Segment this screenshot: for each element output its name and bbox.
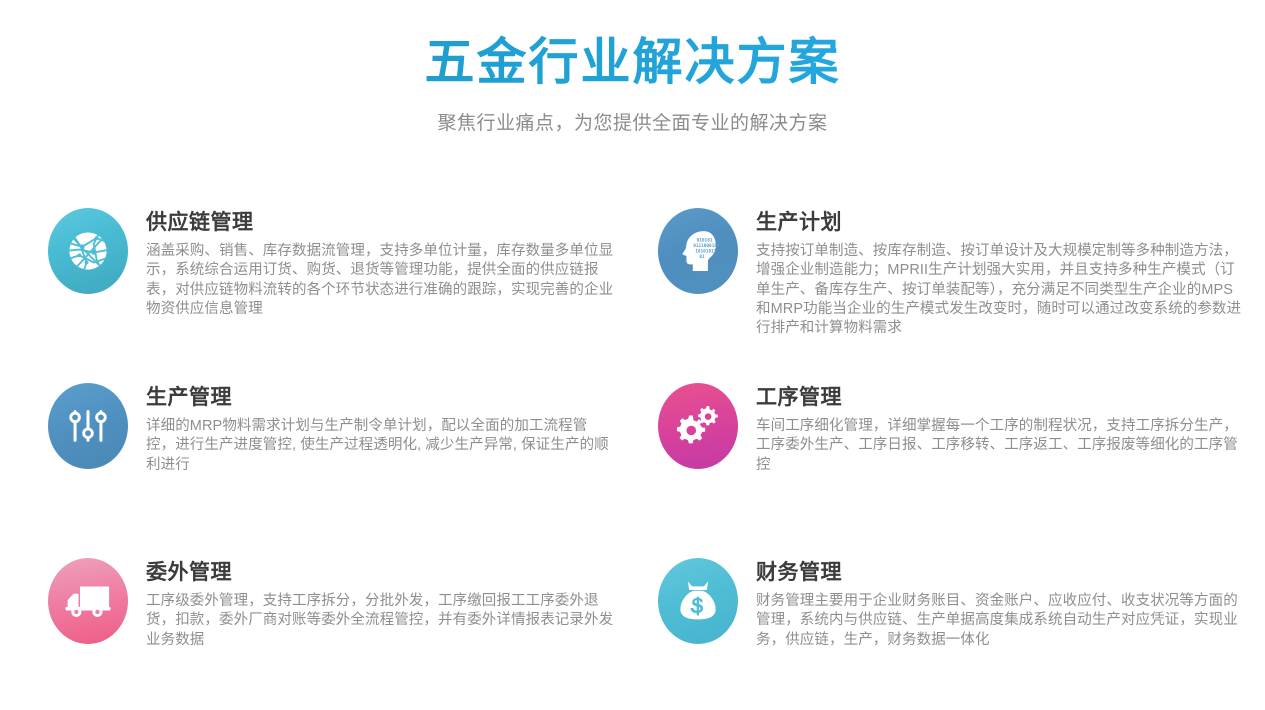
card-description: 涵盖采购、销售、库存数据流管理，支持多单位计量，库存数量多单位显示，系统综合运用… xyxy=(146,242,616,319)
brain-head-binary-icon: 010101 01110001001 10101011 01 xyxy=(658,208,738,294)
feature-card-production-plan[interactable]: 010101 01110001001 10101011 01 生产计划 支持按订… xyxy=(658,200,1258,375)
svg-text:010101: 010101 xyxy=(697,237,713,243)
network-globe-icon xyxy=(48,208,128,294)
delivery-truck-icon xyxy=(48,558,128,644)
feature-card-supply-chain[interactable]: 供应链管理 涵盖采购、销售、库存数据流管理，支持多单位计量，库存数量多单位显示，… xyxy=(48,200,638,375)
money-bag-icon xyxy=(658,558,738,644)
card-title: 生产计划 xyxy=(756,206,1258,236)
card-description: 财务管理主要用于企业财务账目、资金账户、应收应付、收支状况等方面的管理，系统内与… xyxy=(756,592,1246,650)
sliders-icon xyxy=(48,383,128,469)
feature-card-process-mgmt[interactable]: 工序管理 车间工序细化管理，详细掌握每一个工序的制程状况，支持工序拆分生产，工序… xyxy=(658,375,1258,550)
card-description: 工序级委外管理，支持工序拆分，分批外发，工序缴回报工工序委外退货，扣款，委外厂商… xyxy=(146,592,616,650)
card-body: 供应链管理 涵盖采购、销售、库存数据流管理，支持多单位计量，库存数量多单位显示，… xyxy=(146,200,638,319)
card-body: 委外管理 工序级委外管理，支持工序拆分，分批外发，工序缴回报工工序委外退货，扣款… xyxy=(146,550,638,650)
card-body: 财务管理 财务管理主要用于企业财务账目、资金账户、应收应付、收支状况等方面的管理… xyxy=(756,550,1258,650)
feature-card-production-mgmt[interactable]: 生产管理 详细的MRP物料需求计划与生产制令单计划，配以全面的加工流程管控，进行… xyxy=(48,375,638,550)
page-header: 五金行业解决方案 聚焦行业痛点，为您提供全面专业的解决方案 xyxy=(0,0,1265,135)
card-description: 车间工序细化管理，详细掌握每一个工序的制程状况，支持工序拆分生产，工序委外生产、… xyxy=(756,417,1246,475)
svg-text:10101011: 10101011 xyxy=(695,248,717,254)
card-title: 工序管理 xyxy=(756,381,1258,411)
feature-card-finance[interactable]: 财务管理 财务管理主要用于企业财务账目、资金账户、应收应付、收支状况等方面的管理… xyxy=(658,550,1258,710)
card-description: 详细的MRP物料需求计划与生产制令单计划，配以全面的加工流程管控，进行生产进度管… xyxy=(146,417,616,475)
svg-text:01: 01 xyxy=(699,254,705,260)
card-title: 生产管理 xyxy=(146,381,638,411)
gears-icon xyxy=(658,383,738,469)
feature-cards-grid: 供应链管理 涵盖采购、销售、库存数据流管理，支持多单位计量，库存数量多单位显示，… xyxy=(0,200,1265,710)
card-body: 工序管理 车间工序细化管理，详细掌握每一个工序的制程状况，支持工序拆分生产，工序… xyxy=(756,375,1258,475)
svg-text:01110001001: 01110001001 xyxy=(693,243,720,249)
card-title: 委外管理 xyxy=(146,556,638,586)
card-body: 生产计划 支持按订单制造、按库存制造、按订单设计及大规模定制等多种制造方法，增强… xyxy=(756,200,1258,338)
page-title: 五金行业解决方案 xyxy=(0,34,1265,92)
card-title: 财务管理 xyxy=(756,556,1258,586)
card-title: 供应链管理 xyxy=(146,206,638,236)
feature-card-outsourcing[interactable]: 委外管理 工序级委外管理，支持工序拆分，分批外发，工序缴回报工工序委外退货，扣款… xyxy=(48,550,638,710)
card-description: 支持按订单制造、按库存制造、按订单设计及大规模定制等多种制造方法，增强企业制造能… xyxy=(756,242,1246,338)
page-subtitle: 聚焦行业痛点，为您提供全面专业的解决方案 xyxy=(0,108,1265,135)
card-body: 生产管理 详细的MRP物料需求计划与生产制令单计划，配以全面的加工流程管控，进行… xyxy=(146,375,638,475)
